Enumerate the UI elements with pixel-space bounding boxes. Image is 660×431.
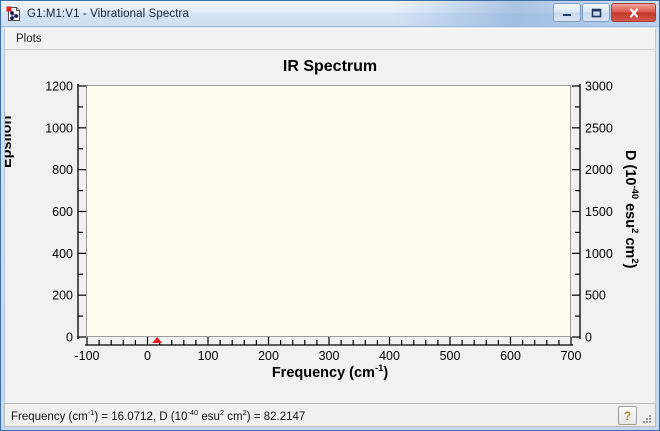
menu-bar: Plots (4, 28, 656, 50)
svg-text:500: 500 (440, 349, 461, 363)
svg-text:400: 400 (52, 247, 73, 261)
status-bar: Frequency (cm-1) = 16.0712, D (10-40 esu… (4, 403, 656, 427)
close-button[interactable] (611, 3, 656, 22)
maximize-icon (590, 8, 602, 18)
svg-text:0: 0 (585, 331, 592, 345)
maximize-button[interactable] (582, 3, 610, 22)
help-button[interactable]: ? (618, 406, 637, 425)
svg-text:300: 300 (319, 349, 340, 363)
svg-text:100: 100 (198, 349, 219, 363)
svg-text:200: 200 (52, 289, 73, 303)
svg-text:1000: 1000 (585, 247, 613, 261)
status-frequency-value: 16.0712 (111, 410, 153, 422)
svg-text:200: 200 (258, 349, 279, 363)
svg-text:0: 0 (66, 331, 73, 345)
svg-text:3000: 3000 (585, 80, 613, 94)
window-controls (552, 3, 656, 22)
svg-text:700: 700 (561, 349, 582, 363)
svg-text:1500: 1500 (585, 205, 613, 219)
svg-text:600: 600 (52, 205, 73, 219)
close-icon (627, 7, 641, 19)
application-window: G1:M1:V1 - Vibrational Spectra (0, 0, 660, 431)
svg-text:800: 800 (52, 163, 73, 177)
molecule-document-icon (6, 6, 22, 22)
svg-text:400: 400 (379, 349, 400, 363)
chart-client-area: IR Spectrum Epsilon D (10-40 esu2 cm2) F… (4, 50, 656, 403)
svg-text:2000: 2000 (585, 163, 613, 177)
svg-text:2500: 2500 (585, 121, 613, 135)
resize-grip-icon[interactable] (641, 413, 653, 425)
status-d-value: 82.2147 (264, 410, 306, 422)
svg-text:500: 500 (585, 289, 606, 303)
minimize-icon (561, 8, 573, 18)
plot-area-frame (86, 85, 571, 337)
svg-text:1200: 1200 (45, 80, 73, 94)
svg-text:600: 600 (500, 349, 521, 363)
svg-text:0: 0 (144, 349, 151, 363)
status-readout: Frequency (cm-1) = 16.0712, D (10-40 esu… (5, 408, 305, 423)
minimize-button[interactable] (553, 3, 581, 22)
title-bar[interactable]: G1:M1:V1 - Vibrational Spectra (1, 1, 659, 27)
svg-text:1000: 1000 (45, 121, 73, 135)
window-title: G1:M1:V1 - Vibrational Spectra (27, 8, 189, 20)
svg-text:-100: -100 (74, 349, 99, 363)
menu-item-plots[interactable]: Plots (9, 31, 49, 47)
